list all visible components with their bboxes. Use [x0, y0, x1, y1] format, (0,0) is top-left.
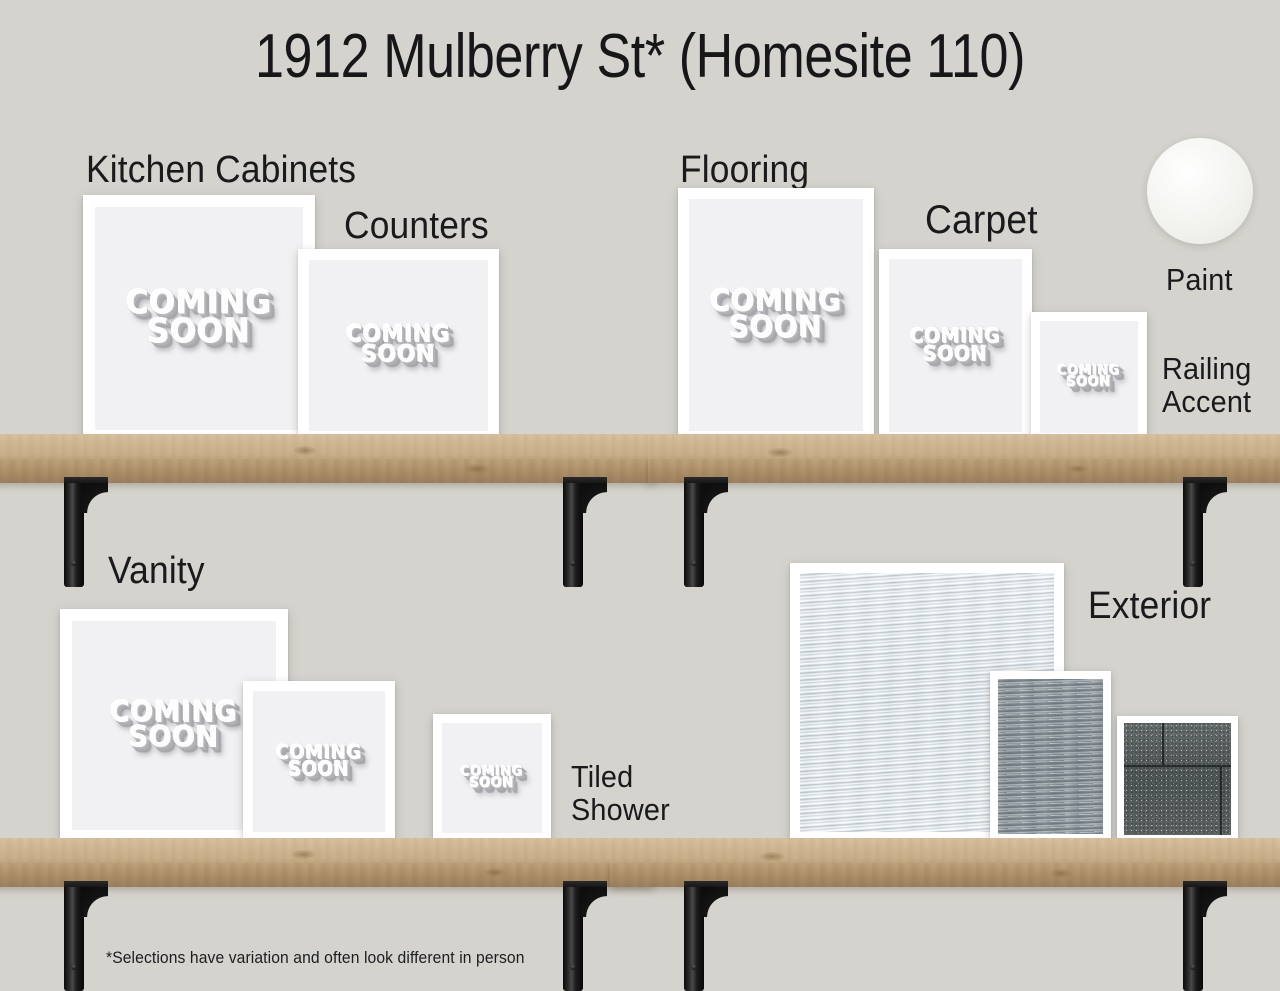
wood-knot [760, 852, 784, 861]
card-inner: COMING SOON [689, 199, 863, 431]
shelf-top-surface [610, 838, 1280, 864]
label-exterior: Exterior [1088, 586, 1211, 626]
bracket-screw [71, 560, 77, 566]
wood-knot [294, 446, 316, 455]
wood-knot [1050, 869, 1072, 878]
coming-soon-line2: SOON [710, 315, 842, 341]
bracket-fillet [581, 887, 607, 917]
coming-soon-graphic: COMING SOON [910, 328, 1001, 363]
bracket-screw [570, 560, 576, 566]
bracket-post [64, 483, 84, 587]
coming-soon-graphic: COMING SOON [461, 766, 524, 790]
label-kitchen-cabinets: Kitchen Cabinets [86, 150, 356, 190]
design-selection-board: 1912 Mulberry St* (Homesite 110) Kitchen… [0, 0, 1280, 989]
sample-card-counters[interactable]: COMING SOON [298, 249, 499, 442]
upper-shelf-left [0, 434, 654, 483]
sample-card-tiled-shower[interactable]: COMING SOON [433, 714, 551, 842]
shelf-bracket [563, 881, 609, 991]
shelf-top-surface [648, 434, 1280, 460]
bracket-post [64, 887, 84, 991]
label-railing-accent: Railing Accent [1162, 353, 1251, 419]
wood-knot [464, 464, 490, 474]
label-counters: Counters [344, 206, 489, 246]
shelf-top-surface [0, 838, 654, 864]
bracket-post [684, 483, 704, 587]
card-inner [1124, 723, 1231, 835]
sample-card-vanity-secondary[interactable]: COMING SOON [243, 681, 395, 842]
coming-soon-line2: SOON [346, 346, 450, 367]
shingle-seam [1162, 723, 1164, 765]
sample-card-exterior-roof-shingle[interactable] [1117, 716, 1238, 842]
shelf-bracket [563, 477, 609, 587]
label-flooring: Flooring [680, 150, 809, 190]
wood-knot [768, 448, 792, 457]
bracket-fillet [581, 483, 607, 513]
bracket-post [684, 887, 704, 991]
shelf-bracket [64, 881, 110, 991]
bracket-screw [1190, 964, 1196, 970]
bracket-fillet [702, 483, 728, 513]
label-paint: Paint [1166, 264, 1233, 297]
lower-shelf-left [0, 838, 654, 887]
card-inner: COMING SOON [253, 691, 385, 832]
coming-soon-line2: SOON [110, 726, 237, 751]
page-title: 1912 Mulberry St* (Homesite 110) [102, 24, 1177, 89]
shelf-bracket [684, 477, 730, 587]
paint-color-swatch[interactable] [1147, 138, 1253, 244]
card-inner: COMING SOON [95, 207, 303, 430]
coming-soon-line2: SOON [126, 319, 272, 348]
shingle-seam [1220, 767, 1222, 835]
footnote-disclaimer: *Selections have variation and often loo… [106, 949, 525, 968]
card-inner: COMING SOON [1040, 321, 1138, 433]
card-inner: COMING SOON [889, 259, 1022, 432]
wood-knot [292, 850, 315, 859]
label-tiled-shower: Tiled Shower [571, 761, 670, 827]
upper-shelf-right [648, 434, 1280, 483]
label-carpet: Carpet [925, 199, 1038, 241]
bracket-fillet [82, 887, 108, 917]
shingle-seam [1124, 765, 1231, 767]
lower-shelf-right [610, 838, 1280, 887]
bracket-post [1183, 483, 1203, 587]
sample-card-railing-accent[interactable]: COMING SOON [1031, 312, 1147, 442]
bracket-screw [1190, 560, 1196, 566]
shelf-bracket [1183, 881, 1229, 991]
sample-card-flooring[interactable]: COMING SOON [678, 188, 874, 442]
coming-soon-graphic: COMING SOON [1058, 365, 1121, 389]
coming-soon-graphic: COMING SOON [346, 325, 450, 366]
shelf-top-surface [0, 434, 654, 460]
card-inner: COMING SOON [309, 260, 488, 431]
bracket-fillet [82, 483, 108, 513]
sample-card-exterior-siding-accent[interactable] [990, 671, 1111, 842]
sample-card-kitchen-cabinets[interactable]: COMING SOON [83, 195, 315, 442]
sample-card-carpet[interactable]: COMING SOON [879, 249, 1032, 442]
coming-soon-line2: SOON [276, 762, 362, 779]
bracket-fillet [702, 887, 728, 917]
bracket-post [563, 483, 583, 587]
shelf-bracket [684, 881, 730, 991]
wood-knot [484, 868, 506, 877]
wood-knot [1068, 465, 1088, 473]
coming-soon-line2: SOON [1058, 377, 1121, 389]
bracket-screw [691, 964, 697, 970]
coming-soon-line2: SOON [461, 778, 524, 790]
bracket-screw [71, 964, 77, 970]
bracket-screw [691, 560, 697, 566]
bracket-screw [570, 964, 576, 970]
texture-dark-woodgrain-siding [998, 679, 1103, 834]
shelf-bracket [1183, 477, 1229, 587]
texture-asphalt-shingle [1124, 723, 1231, 835]
bracket-fillet [1201, 887, 1227, 917]
coming-soon-graphic: COMING SOON [276, 745, 362, 779]
bracket-fillet [1201, 483, 1227, 513]
coming-soon-graphic: COMING SOON [110, 700, 237, 750]
coming-soon-line2: SOON [910, 346, 1001, 364]
card-inner: COMING SOON [442, 723, 542, 833]
coming-soon-graphic: COMING SOON [126, 290, 272, 348]
bracket-post [1183, 887, 1203, 991]
coming-soon-graphic: COMING SOON [710, 289, 842, 341]
label-vanity: Vanity [108, 551, 205, 591]
shelf-bracket [64, 477, 110, 587]
card-inner [998, 679, 1103, 834]
bracket-post [563, 887, 583, 991]
